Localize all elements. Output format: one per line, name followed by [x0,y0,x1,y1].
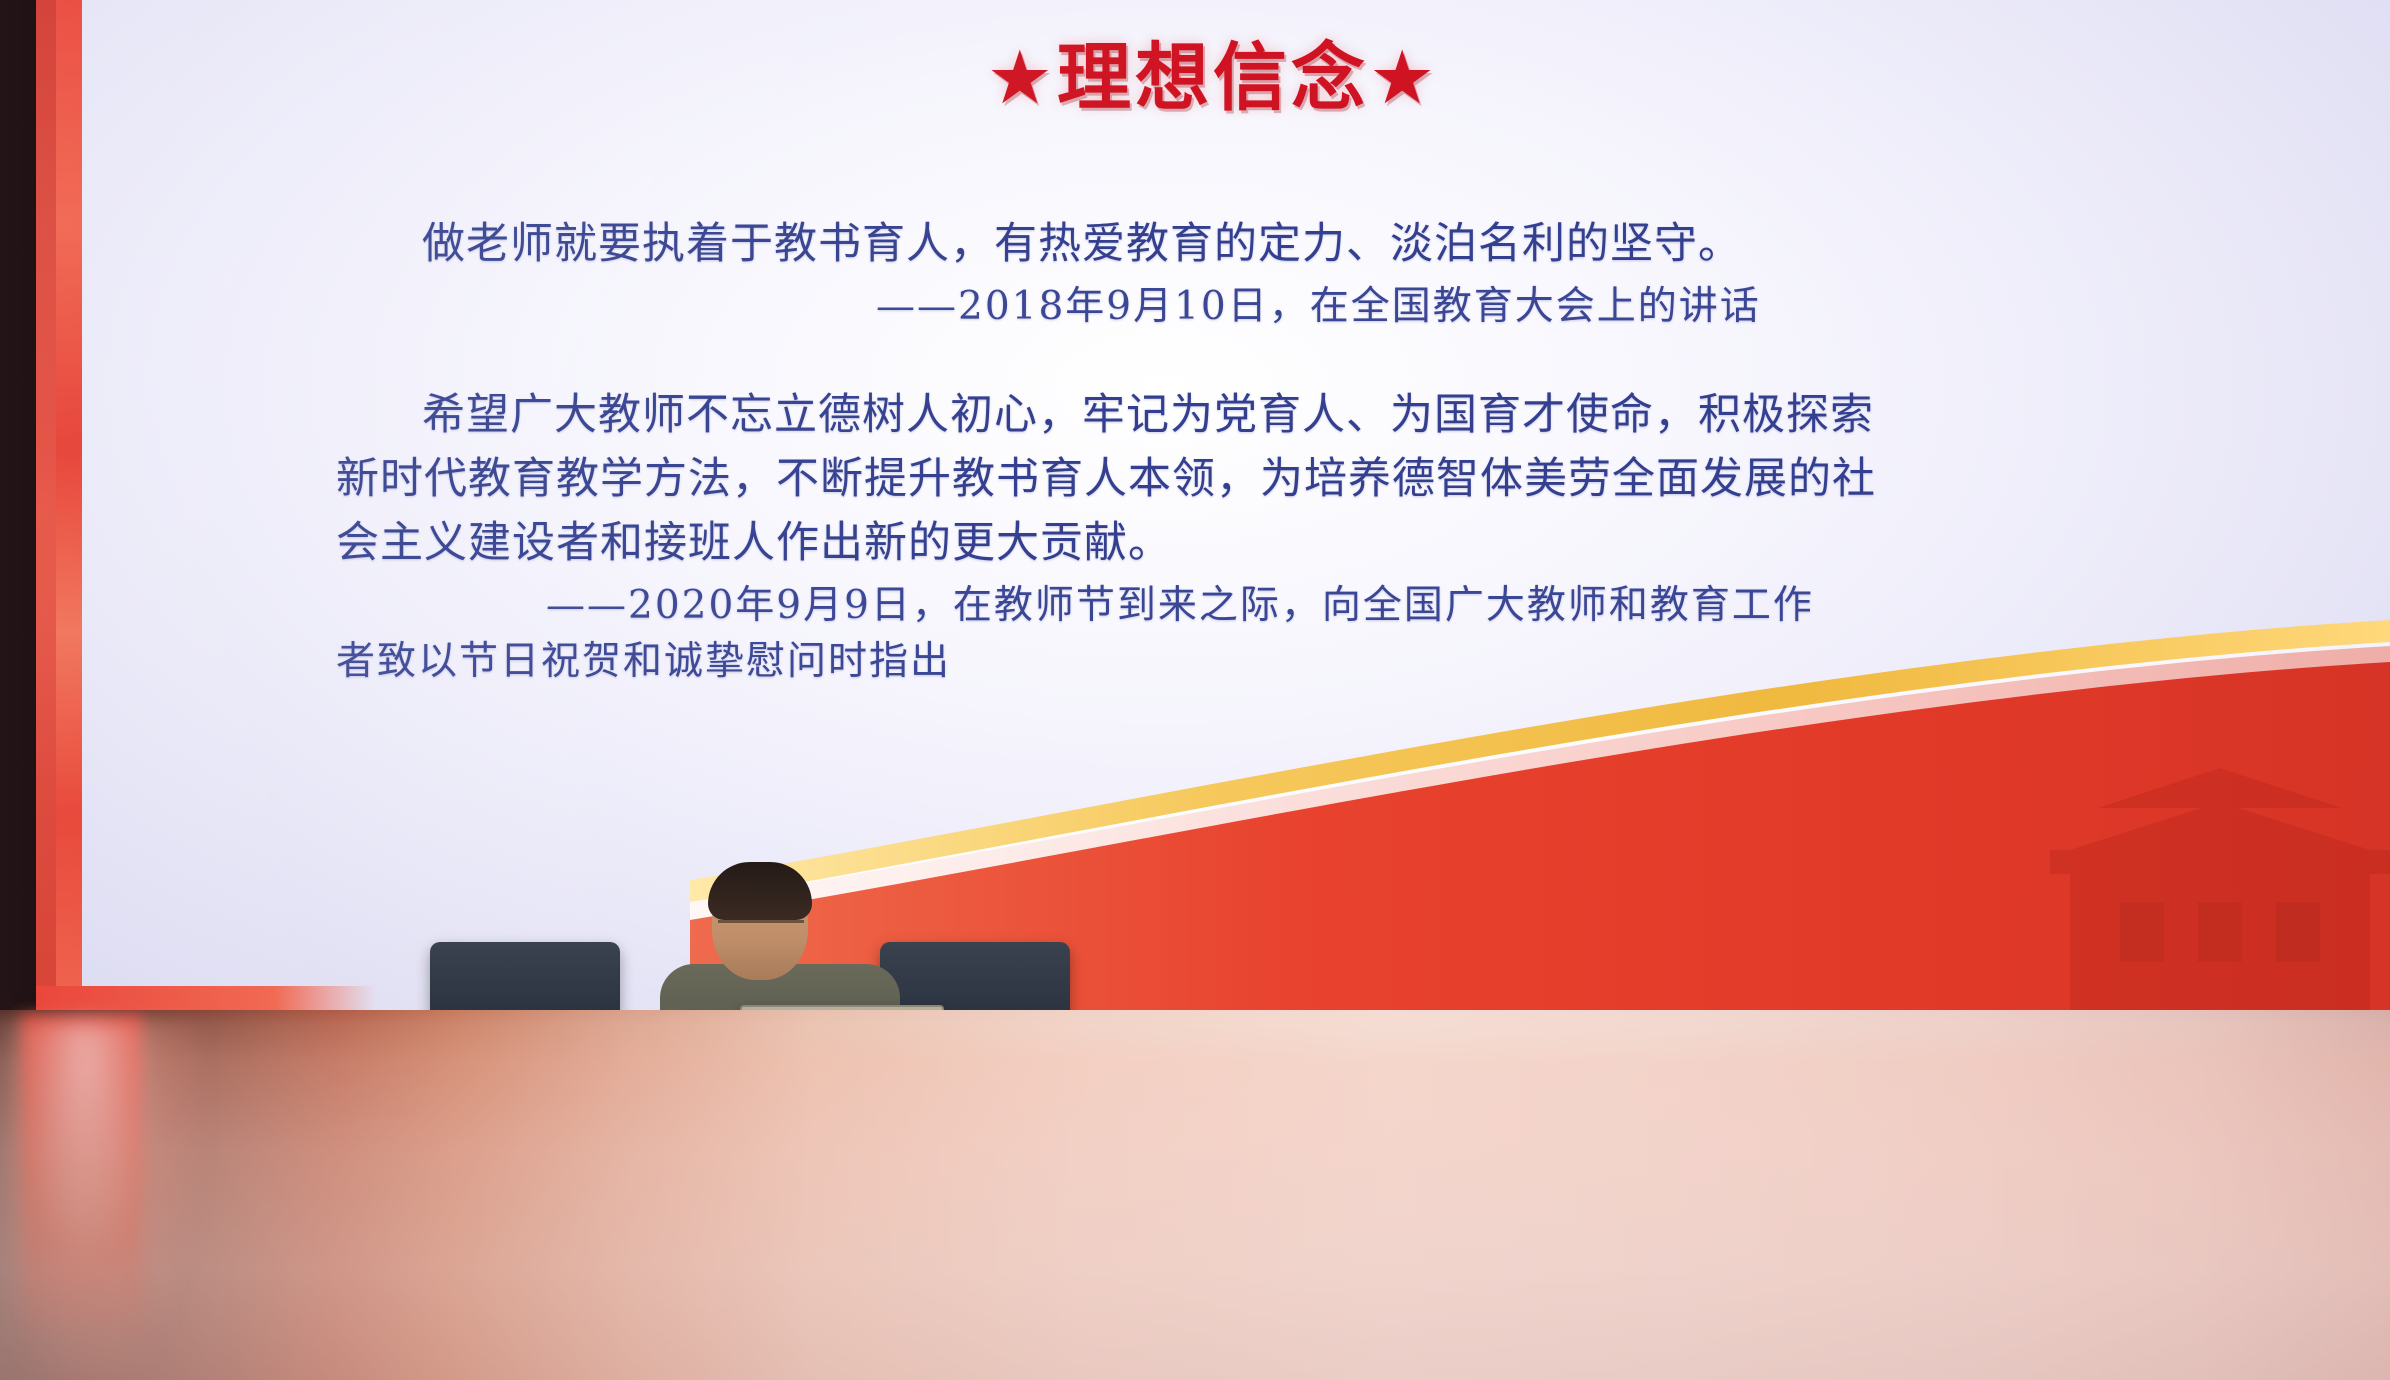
stage-floor [0,1010,2390,1380]
quote-two-attribution-line-2: 者致以节日祝贺和诚挚慰问时指出 [336,636,2316,689]
lecture-hall-scene: ★理想信念★ 做老师就要执着于教书育人，有热爱教育的定力、淡泊名利的坚守。 ——… [0,0,2390,1380]
quote-two-line-2: 新时代教育教学方法，不断提升教书育人本领，为培养德智体美劳全面发展的社 [336,450,2316,508]
slide-left-red-band [36,0,82,1020]
paragraph-spacer [336,334,2316,386]
speaker-glasses [718,920,804,937]
floor-light-glow [10,1020,200,1380]
quote-two-line-1: 希望广大教师不忘立德树人初心，牢记为党育人、为国育才使命，积极探索 [336,386,2316,444]
slide-left-red-band-inner [36,0,56,1020]
quote-one-attribution: ——2018年9月10日，在全国教育大会上的讲话 [336,281,2316,334]
speaker-hair [708,862,812,920]
tiananmen-gate-silhouette [2050,768,2390,1020]
quote-one-text: 做老师就要执着于教书育人，有热爱教育的定力、淡泊名利的坚守。 [336,215,2316,273]
slide-title: ★理想信念★ [36,18,2390,125]
slide-body-text: 做老师就要执着于教书育人，有热爱教育的定力、淡泊名利的坚守。 ——2018年9月… [336,215,2316,689]
quote-two-line-3: 会主义建设者和接班人作出新的更大贡献。 [336,514,2316,572]
led-projection-screen: ★理想信念★ 做老师就要执着于教书育人，有热爱教育的定力、淡泊名利的坚守。 ——… [36,0,2390,1020]
quote-two-attribution-line-1: ——2020年9月9日，在教师节到来之际，向全国广大教师和教育工作 [336,580,2316,633]
